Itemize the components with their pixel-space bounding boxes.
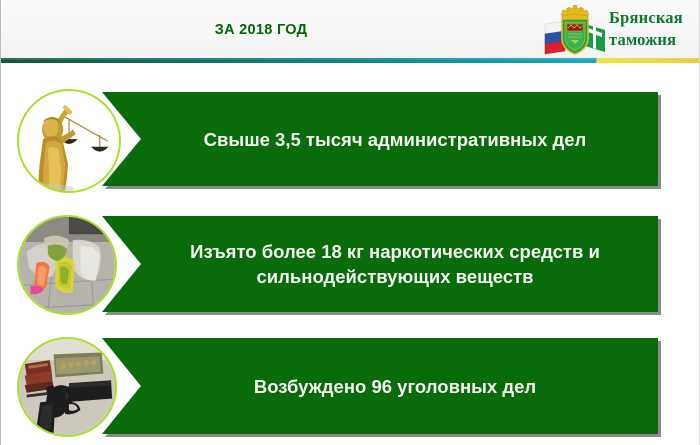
slide-page: ЗА 2018 ГОД bbox=[0, 0, 700, 445]
stat-row-administrative-cases: Свыше 3,5 тысяч административных дел bbox=[1, 88, 700, 192]
banner-criminal-cases[interactable]: Возбуждено 96 уголовных дел bbox=[102, 338, 658, 434]
header-divider bbox=[1, 60, 700, 63]
slide-header: ЗА 2018 ГОД bbox=[1, 0, 700, 62]
banner-label: Возбуждено 96 уголовных дел bbox=[206, 374, 554, 399]
banner-seized-drugs[interactable]: Изъято более 18 кг наркотических средств… bbox=[102, 216, 658, 312]
revolver-and-ammunition-photo bbox=[17, 337, 117, 437]
customs-emblem-icon bbox=[541, 4, 609, 56]
banner-administrative-cases[interactable]: Свыше 3,5 тысяч административных дел bbox=[102, 92, 658, 186]
page-title: ЗА 2018 ГОД bbox=[1, 22, 521, 38]
banner-label: Свыше 3,5 тысяч административных дел bbox=[156, 127, 605, 152]
seized-drug-packets-photo bbox=[17, 215, 117, 315]
logo-text: Брянская таможня bbox=[609, 7, 700, 51]
logo-text-line1: Брянская bbox=[609, 7, 700, 29]
stat-row-seized-drugs: Изъято более 18 кг наркотических средств… bbox=[1, 212, 700, 320]
themis-statue-photo bbox=[17, 89, 121, 193]
stat-row-criminal-cases: Возбуждено 96 уголовных дел bbox=[1, 334, 700, 442]
bryansk-customs-logo: Брянская таможня bbox=[537, 2, 700, 58]
banner-label: Изъято более 18 кг наркотических средств… bbox=[142, 239, 618, 289]
logo-text-line2: таможня bbox=[609, 29, 700, 51]
